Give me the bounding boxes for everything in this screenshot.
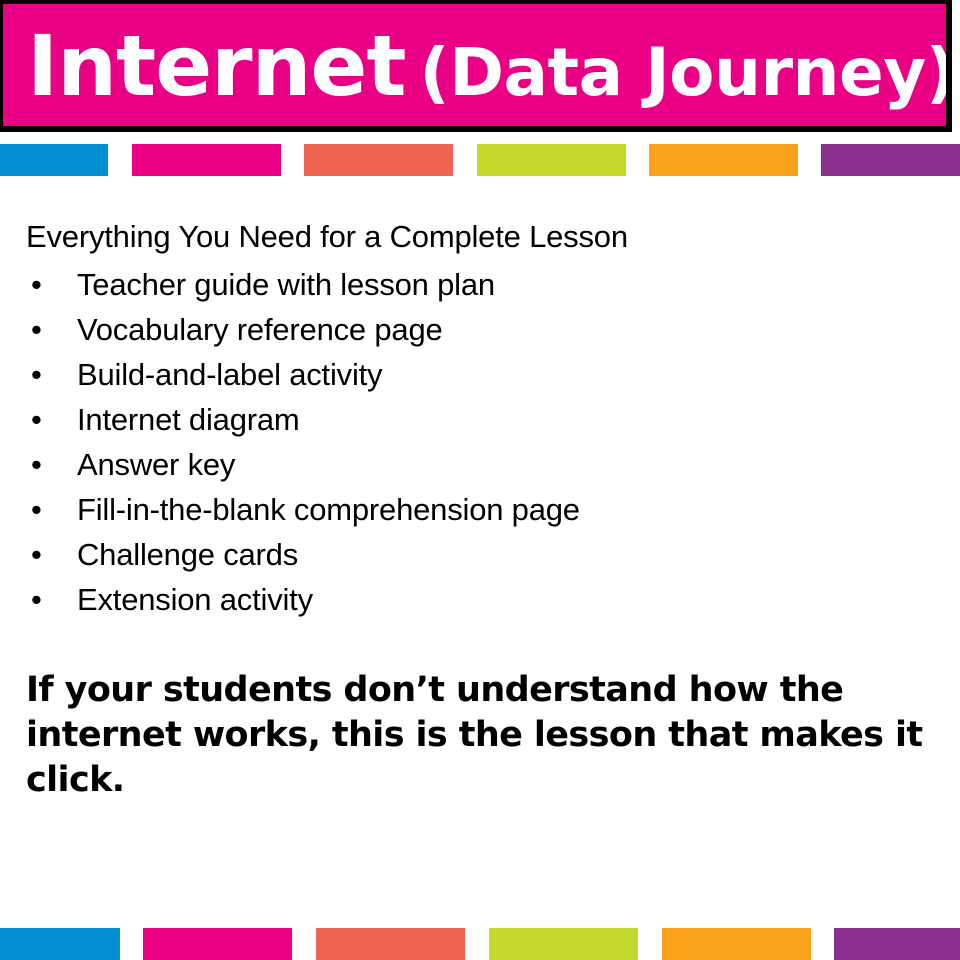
color-swatch-purple [821,144,960,176]
list-item-label: Fill-in-the-blank comprehension page [77,492,580,527]
list-item-label: Teacher guide with lesson plan [77,267,495,302]
color-swatch-coral [316,928,465,960]
header-banner: Internet (Data Journey) [0,0,952,132]
color-swatch-orange [662,928,811,960]
bullet-icon: • [31,577,42,622]
list-item-label: Answer key [77,447,235,482]
color-swatch-lime [489,928,638,960]
bullet-icon: • [31,307,42,352]
list-item: •Fill-in-the-blank comprehension page [26,487,926,532]
list-item: •Teacher guide with lesson plan [26,262,926,307]
color-swatch-pink [143,928,292,960]
color-swatch-orange [649,144,798,176]
bullet-icon: • [31,532,42,577]
list-item: •Challenge cards [26,532,926,577]
lesson-contents-list: •Teacher guide with lesson plan•Vocabula… [26,262,926,622]
list-item-label: Challenge cards [77,537,298,572]
list-item: •Answer key [26,442,926,487]
color-swatch-lime [477,144,626,176]
list-item: •Extension activity [26,577,926,622]
bullet-icon: • [31,442,42,487]
page-title-subtitle: (Data Journey) [420,42,952,105]
page-title-main: Internet [27,27,406,107]
page-title: Internet (Data Journey) [3,27,952,107]
lesson-contents: Everything You Need for a Complete Lesso… [26,214,926,622]
color-swatch-blue [0,144,108,176]
bullet-icon: • [31,352,42,397]
list-item-label: Extension activity [77,582,313,617]
list-item-label: Vocabulary reference page [77,312,443,347]
list-item: •Internet diagram [26,397,926,442]
bullet-icon: • [31,262,42,307]
closing-statement: If your students don’t understand how th… [26,668,926,803]
list-item: •Build-and-label activity [26,352,926,397]
list-item-label: Build-and-label activity [77,357,382,392]
color-swatch-purple [834,928,960,960]
color-swatch-pink [132,144,281,176]
color-swatch-bar-bottom [0,928,960,960]
color-swatch-bar-top [0,144,960,176]
color-swatch-coral [304,144,453,176]
list-item-label: Internet diagram [77,402,300,437]
lesson-contents-heading: Everything You Need for a Complete Lesso… [26,214,926,260]
color-swatch-blue [0,928,120,960]
bullet-icon: • [31,397,42,442]
bullet-icon: • [31,487,42,532]
slide-page: Internet (Data Journey) Everything You N… [0,0,960,960]
list-item: •Vocabulary reference page [26,307,926,352]
